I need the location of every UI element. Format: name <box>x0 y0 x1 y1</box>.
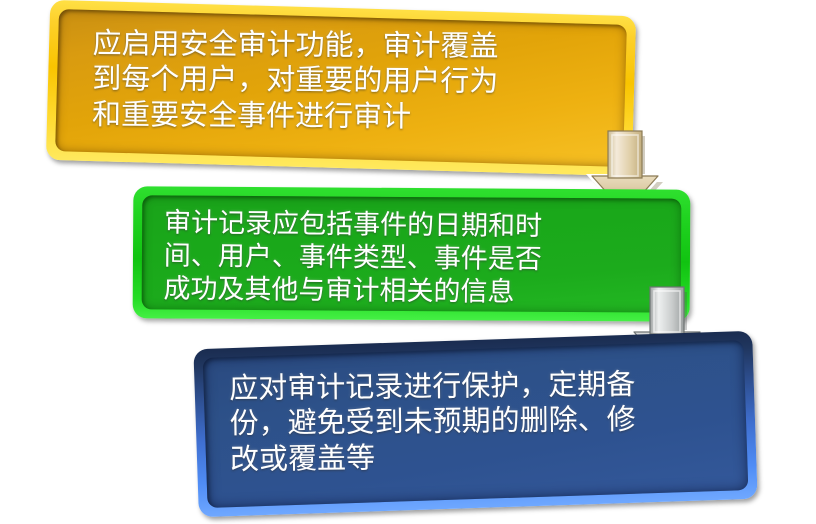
flow-step-blue-face: 应对审计记录进行保护，定期备 份，避免受到未预期的删除、修 改或覆盖等 <box>203 340 749 508</box>
flow-step-blue-text: 应对审计记录进行保护，定期备 份，避免受到未预期的删除、修 改或覆盖等 <box>229 367 636 477</box>
flow-step-green-face: 审计记录应包括事件的日期和时 间、用户、事件类型、事件是否 成功及其他与审计相关… <box>142 195 682 312</box>
flow-step-green[interactable]: 审计记录应包括事件的日期和时 间、用户、事件类型、事件是否 成功及其他与审计相关… <box>133 186 691 321</box>
flow-step-green-text: 审计记录应包括事件的日期和时 间、用户、事件类型、事件是否 成功及其他与审计相关… <box>163 207 542 309</box>
flow-step-blue[interactable]: 应对审计记录进行保护，定期备 份，避免受到未预期的删除、修 改或覆盖等 <box>193 331 757 517</box>
flow-step-gold-text: 应启用安全审计功能，审计覆盖 到每个用户，对重要的用户行为 和重要安全事件进行审… <box>92 26 499 135</box>
flow-step-gold[interactable]: 应启用安全审计功能，审计覆盖 到每个用户，对重要的用户行为 和重要安全事件进行审… <box>46 0 636 176</box>
flow-step-gold-face: 应启用安全审计功能，审计覆盖 到每个用户，对重要的用户行为 和重要安全事件进行审… <box>55 9 627 167</box>
slide-canvas: 应启用安全审计功能，审计覆盖 到每个用户，对重要的用户行为 和重要安全事件进行审… <box>0 0 816 524</box>
